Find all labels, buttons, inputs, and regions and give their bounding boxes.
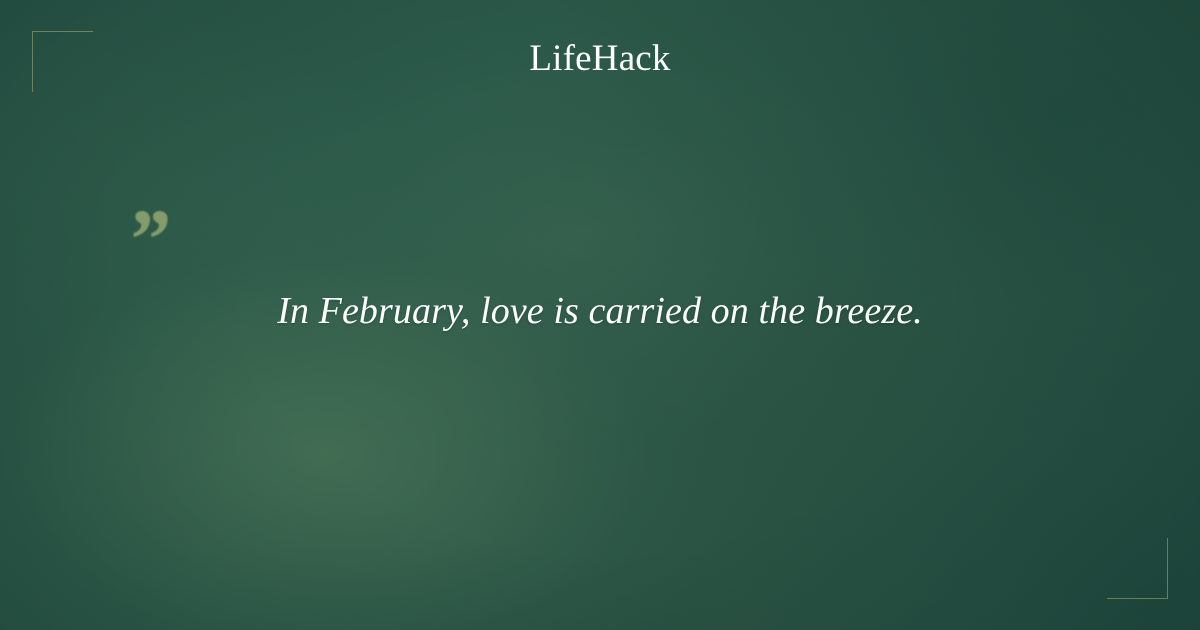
corner-bracket-bottom-right	[1107, 538, 1168, 599]
quote-mark-icon: ”	[126, 196, 186, 276]
brand-wordmark: LifeHack	[0, 40, 1200, 77]
quote-text: In February, love is carried on the bree…	[130, 286, 1070, 336]
quote-card: LifeHack ” In February, love is carried …	[0, 0, 1200, 630]
quote-block: In February, love is carried on the bree…	[130, 286, 1070, 336]
